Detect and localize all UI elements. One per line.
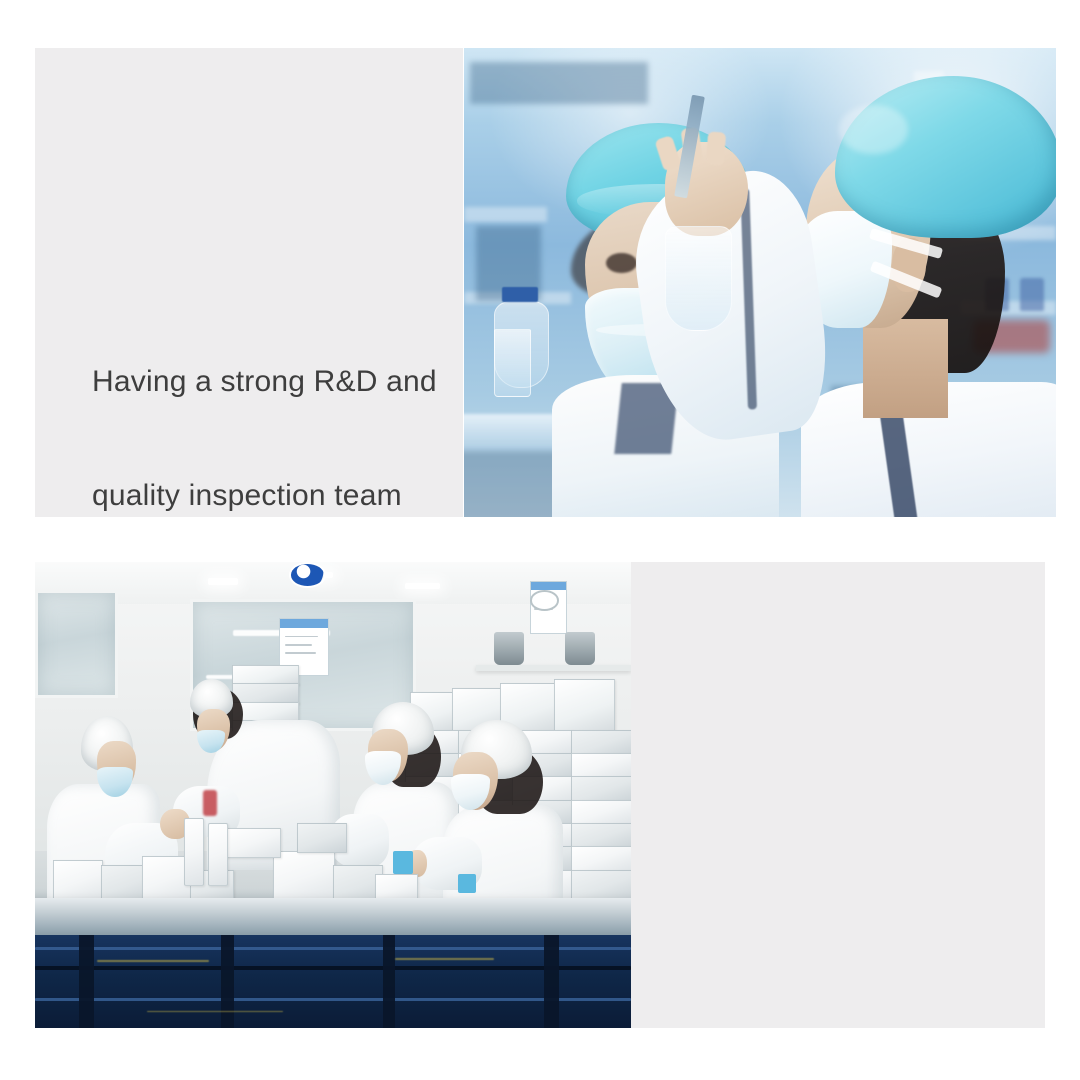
yellow-marking-3 bbox=[147, 1011, 283, 1012]
worker-bending-red-accent bbox=[203, 790, 216, 816]
table-carton-5 bbox=[273, 851, 335, 904]
table-carton-8 bbox=[226, 828, 282, 858]
lab-bg-beam bbox=[470, 62, 648, 104]
carton-28 bbox=[571, 870, 631, 900]
poster-line-2 bbox=[285, 644, 312, 646]
carton-16 bbox=[571, 800, 631, 825]
steel-pot-1 bbox=[494, 632, 524, 665]
blue-handheld-tool bbox=[393, 851, 414, 874]
wall-clock-icon bbox=[530, 590, 559, 611]
lab-bottle-cap bbox=[502, 287, 538, 302]
table-rail-3 bbox=[35, 998, 630, 1001]
equipment-shelf bbox=[476, 665, 631, 672]
top-caption: Having a strong R&D and quality inspecti… bbox=[92, 287, 437, 517]
ceiling-light-1 bbox=[208, 578, 238, 585]
table-rail-2 bbox=[35, 966, 630, 970]
lab-finger-3 bbox=[706, 132, 726, 166]
lab-bg-shelf-1 bbox=[464, 207, 547, 221]
upright-bottle-2 bbox=[208, 823, 228, 886]
upright-bottle-1 bbox=[184, 818, 204, 885]
table-carton-9 bbox=[297, 823, 347, 853]
lab-flask-held bbox=[665, 226, 732, 331]
table-leg-4 bbox=[544, 935, 559, 1028]
carton-24 bbox=[571, 846, 631, 871]
steel-table-top bbox=[35, 898, 631, 940]
technician-profile-hairnet-icon bbox=[835, 76, 1056, 238]
table-rail-1 bbox=[35, 947, 630, 950]
yellow-marking-1 bbox=[97, 960, 209, 961]
lab-sleeve-seam bbox=[740, 188, 757, 409]
lab-beaker bbox=[494, 329, 532, 397]
carton-8 bbox=[571, 753, 631, 778]
blue-handheld-tool-2 bbox=[458, 874, 476, 893]
table-leg-3 bbox=[383, 935, 395, 1028]
top-caption-panel: Having a strong R&D and quality inspecti… bbox=[35, 48, 463, 517]
ceiling-light-3 bbox=[405, 583, 441, 589]
table-understructure bbox=[35, 935, 631, 1028]
poster-line-1 bbox=[285, 636, 318, 638]
table-leg-1 bbox=[79, 935, 94, 1028]
top-caption-line-1: Having a strong R&D and bbox=[92, 363, 437, 401]
poster-line-3 bbox=[285, 652, 316, 654]
lab-photo bbox=[464, 48, 1056, 517]
lab-scene bbox=[464, 48, 1056, 517]
technician-front-eye-left bbox=[606, 253, 637, 273]
side-window bbox=[35, 590, 118, 699]
top-caption-line-2: quality inspection team bbox=[92, 477, 437, 515]
blue-round-sign-icon bbox=[291, 564, 324, 585]
page-root: Having a strong R&D and quality inspecti… bbox=[0, 0, 1080, 1080]
yellow-marking-2 bbox=[395, 958, 494, 959]
steel-pot-2 bbox=[565, 632, 595, 665]
table-leg-2 bbox=[221, 935, 233, 1028]
warehouse-scene bbox=[35, 562, 631, 1028]
carton-4 bbox=[571, 730, 631, 755]
lab-technician-profile bbox=[784, 76, 1056, 517]
technician-profile-neck bbox=[863, 319, 948, 418]
carton-20 bbox=[571, 823, 631, 848]
warehouse-photo bbox=[35, 562, 631, 1028]
carton-12 bbox=[571, 776, 631, 801]
